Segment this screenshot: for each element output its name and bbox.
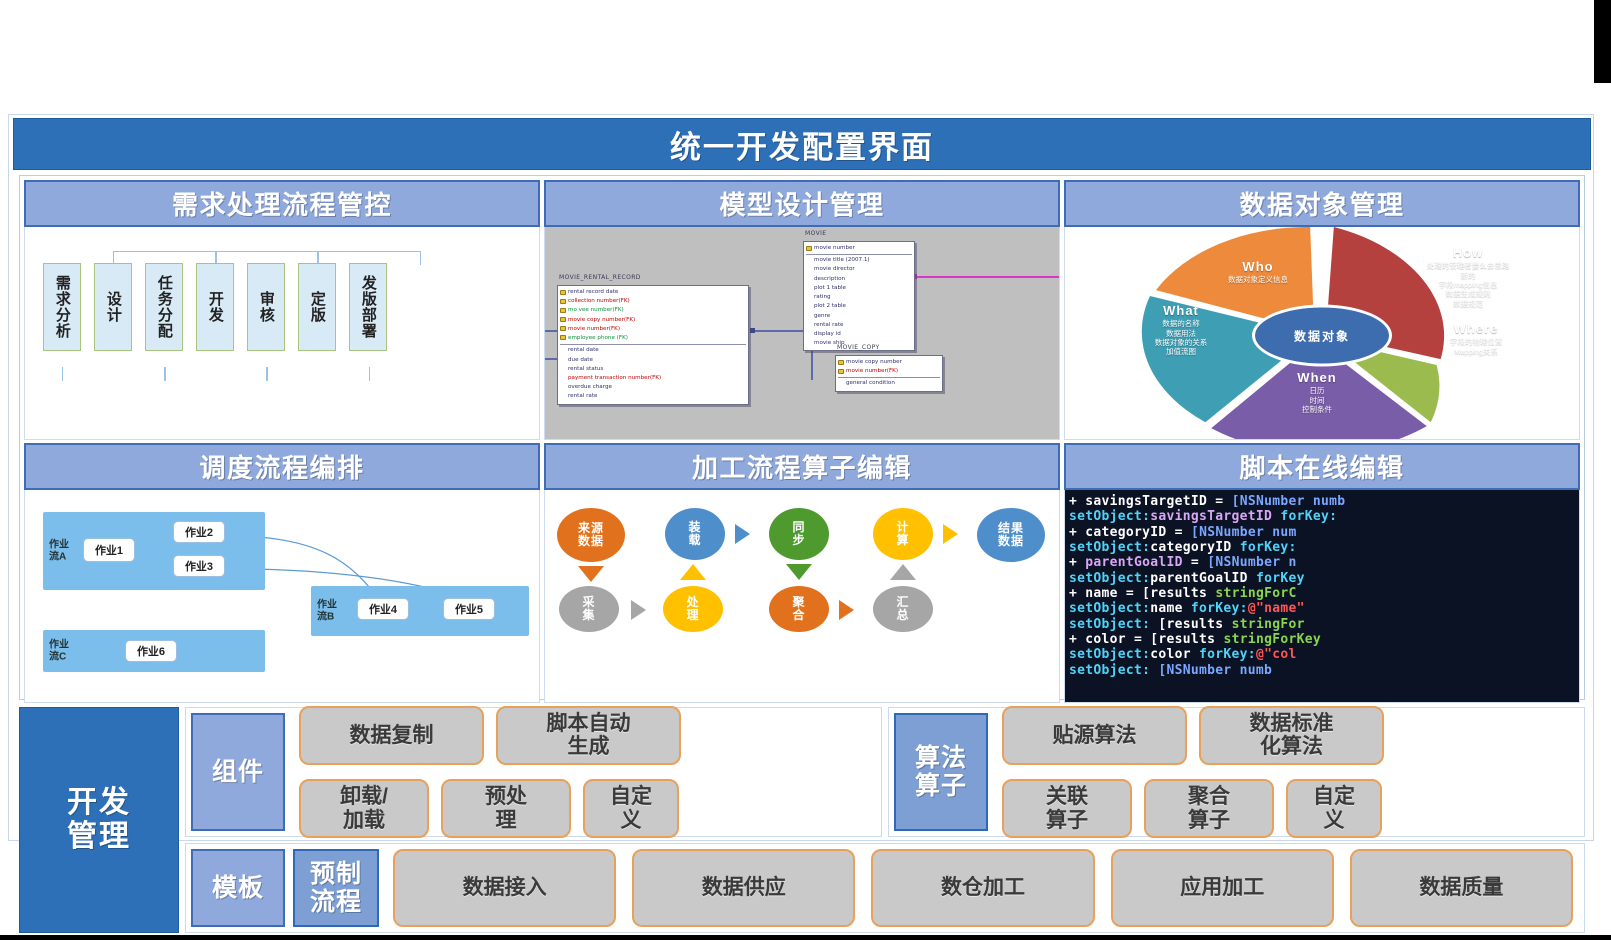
operator-compute[interactable]: 计算 xyxy=(873,508,933,560)
er-field: payment transaction number(FK) xyxy=(568,374,746,383)
script-code-area[interactable]: + savingsTargetID = [NSNumber numbsetObj… xyxy=(1065,490,1579,702)
panel-title-requirement: 需求处理流程管控 xyxy=(172,185,392,222)
code-line: setObject:parentGoalID forKey xyxy=(1069,571,1579,586)
chip-data-ingest[interactable]: 数据接入 xyxy=(393,849,616,927)
lane-label-b: 作业流B xyxy=(317,600,337,623)
er-field: rental rate xyxy=(568,392,746,401)
lane-label-c: 作业流C xyxy=(49,640,69,663)
lane-label-a: 作业流A xyxy=(49,540,69,563)
er-table-keys: movie number movie title (2007.1) movie … xyxy=(804,242,914,350)
code-line: setObject:savingsTargetID forKey: xyxy=(1069,509,1579,524)
flow-step[interactable]: 开发 xyxy=(196,263,234,351)
operator-label: 处理 xyxy=(686,596,699,621)
panel-header-script: 脚本在线编辑 xyxy=(1064,443,1580,490)
pie-label-line: 时间 xyxy=(1247,396,1387,405)
flow-step-label: 需求分析 xyxy=(54,275,70,339)
code-line: + categoryID = [NSNumber num xyxy=(1069,525,1579,540)
chip-app-process[interactable]: 应用加工 xyxy=(1111,849,1334,927)
component-chip-row-top: 数据复制 脚本自动生成 xyxy=(299,706,870,765)
chip-standardization-algorithm[interactable]: 数据标准化算法 xyxy=(1199,706,1384,765)
job-node[interactable]: 作业6 xyxy=(125,640,177,662)
pie-label-line: 加值流图 xyxy=(1111,347,1251,356)
arrow-right-icon xyxy=(839,600,854,620)
er-field: rental status xyxy=(568,365,746,374)
er-field: overdue charge xyxy=(568,383,746,392)
er-field: rental rate xyxy=(814,321,912,330)
category-template[interactable]: 模板 xyxy=(191,849,285,927)
operator-label: 汇总 xyxy=(896,596,909,621)
pie-label-line: 数据生成规则 xyxy=(1383,289,1553,298)
er-field: plot 1 table xyxy=(814,284,912,293)
code-line: setObject:categoryID forKey: xyxy=(1069,540,1579,555)
module-row-2: 调度流程编排 作业流A xyxy=(24,443,1580,703)
pie-label-title: How xyxy=(1383,245,1553,261)
chip-unload-load[interactable]: 卸载/加载 xyxy=(299,779,429,838)
operator-label: 采集 xyxy=(582,596,595,621)
dev-row-templates: 模板 预制流程 数据接入 数据供应 数仓加工 应用加工 数据质量 xyxy=(185,843,1585,933)
panel-title-model: 模型设计管理 xyxy=(719,185,884,222)
requirement-steps: 需求分析 设计 任务分配 开发 审核 定版 发版部署 xyxy=(43,245,529,429)
operator-label: 来源数据 xyxy=(578,522,604,547)
pie-label-line: 数据对象定义信息 xyxy=(1183,275,1333,284)
chip-custom-operator[interactable]: 自定义 xyxy=(1286,779,1382,838)
panel-model-design[interactable]: 模型设计管理 xyxy=(544,180,1060,440)
operator-label: 计算 xyxy=(896,521,909,546)
right-edge-bar xyxy=(1594,0,1611,83)
arrow-up-icon xyxy=(680,564,706,580)
category-label: 模板 xyxy=(212,874,264,902)
panel-schedule-orchestration[interactable]: 调度流程编排 作业流A xyxy=(24,443,540,703)
algorithm-chips: 贴源算法 数据标准化算法 关联算子 聚合算子 自定义 xyxy=(996,713,1579,831)
schedule-diagram: 作业流A 作业1 作业2 作业3 作业流B 作业4 作业5 作业流C xyxy=(25,490,539,702)
panel-body-model: is rented as /is a copy of a is rented u… xyxy=(544,227,1060,440)
panel-operator-editor[interactable]: 加工流程算子编辑 来源数据 采集 xyxy=(544,443,1060,703)
slide-page: 统一开发配置界面 需求处理流程管控 xyxy=(0,0,1611,940)
er-table-caption: MOVIE_COPY xyxy=(837,344,880,351)
category-label: 算法算子 xyxy=(915,744,967,800)
panel-title-data-object: 数据对象管理 xyxy=(1239,185,1404,222)
er-table-movie-rental-record[interactable]: MOVIE_RENTAL_RECORD rental record date c… xyxy=(557,285,749,405)
er-field: movie copy number(FK) xyxy=(568,316,746,325)
code-line: setObject: [NSNumber numb xyxy=(1069,663,1579,678)
page-title: 统一开发配置界面 xyxy=(670,122,934,167)
panel-script-editor[interactable]: 脚本在线编辑 + savingsTargetID = [NSNumber num… xyxy=(1064,443,1580,703)
flow-step-label: 发版部署 xyxy=(360,275,376,339)
code-line: setObject:color forKey:@"col xyxy=(1069,647,1579,662)
pie-label-line: 数据对象的关系 xyxy=(1111,338,1251,347)
pie-label-line: 数据的名称 xyxy=(1111,319,1251,328)
er-field: movie number(FK) xyxy=(568,325,746,334)
er-field: movie director xyxy=(814,265,912,274)
er-table-movie[interactable]: MOVIE movie number movie title (2007.1) … xyxy=(803,241,915,351)
operator-summary[interactable]: 汇总 xyxy=(873,586,933,632)
pie-label-how: How 处理的管理者要么去思路 新的 字段mapping信息 数据生成规则 数据… xyxy=(1383,245,1553,308)
pie-label-line: 字段mapping信息 xyxy=(1383,280,1553,289)
operator-label: 装载 xyxy=(688,521,701,546)
operator-label: 结果数据 xyxy=(998,522,1024,547)
component-chips: 数据复制 脚本自动生成 卸载/加载 预处理 自定义 xyxy=(293,713,876,831)
algorithm-chip-row-bottom: 关联算子 聚合算子 自定义 xyxy=(1002,779,1573,838)
arrow-right-icon xyxy=(735,524,750,544)
panel-header-operator: 加工流程算子编辑 xyxy=(544,443,1060,490)
er-field: genre xyxy=(814,312,912,321)
job-node[interactable]: 作业3 xyxy=(173,555,225,577)
page-title-bar: 统一开发配置界面 xyxy=(13,118,1591,170)
er-dot xyxy=(750,328,755,333)
panel-title-schedule: 调度流程编排 xyxy=(199,448,364,485)
pie-label-line: 控制条件 xyxy=(1247,405,1387,414)
panel-body-data-object: Who 数据对象定义信息 What 数据的名称 数据用法 数据对象的关系 加值流… xyxy=(1064,227,1580,440)
flow-step[interactable]: 定版 xyxy=(298,263,336,351)
er-table-movie-copy[interactable]: MOVIE_COPY movie copy number movie numbe… xyxy=(835,355,943,392)
component-chip-row-bottom: 卸载/加载 预处理 自定义 xyxy=(299,779,870,838)
code-line: + name = [results stringForC xyxy=(1069,586,1579,601)
panel-header-requirement: 需求处理流程管控 xyxy=(24,180,540,227)
operator-process[interactable]: 处理 xyxy=(663,586,723,632)
er-field: movie title (2007.1) xyxy=(814,256,912,265)
panel-header-model: 模型设计管理 xyxy=(544,180,1060,227)
category-components[interactable]: 组件 xyxy=(191,713,285,831)
flow-step-label: 审核 xyxy=(258,291,274,323)
category-label: 预制流程 xyxy=(310,860,362,916)
er-field: display id xyxy=(814,330,912,339)
chip-data-quality[interactable]: 数据质量 xyxy=(1350,849,1573,927)
chip-warehouse-process[interactable]: 数仓加工 xyxy=(871,849,1094,927)
pie-label-line: 字段的物理位置 xyxy=(1401,337,1551,346)
operator-result-data[interactable]: 结果数据 xyxy=(977,508,1045,562)
pie-label-title: Where xyxy=(1401,321,1551,337)
dev-management-content: 组件 数据复制 脚本自动生成 卸载/加载 预处理 自定义 xyxy=(185,707,1585,933)
panel-title-script: 脚本在线编辑 xyxy=(1239,448,1404,485)
er-table-keys: movie copy number movie number(FK) gener… xyxy=(836,356,942,391)
operator-flow-diagram: 来源数据 采集 处理 装载 xyxy=(545,490,1059,702)
category-preset-flow[interactable]: 预制流程 xyxy=(293,849,379,927)
panel-header-data-object: 数据对象管理 xyxy=(1064,180,1580,227)
pie-label-where: Where 字段的物理位置 Mapping关系 xyxy=(1401,321,1551,356)
pie-label-title: What xyxy=(1111,303,1251,319)
code-line: + color = [results stringForKey xyxy=(1069,632,1579,647)
data-object-pie-chart: Who 数据对象定义信息 What 数据的名称 数据用法 数据对象的关系 加值流… xyxy=(1065,227,1579,439)
dev-management-label-box: 开发管理 xyxy=(19,707,179,933)
pie-label-when: When 日历 时间 控制条件 xyxy=(1247,370,1387,414)
pie-label-line: Mapping关系 xyxy=(1401,347,1551,356)
category-label: 组件 xyxy=(212,758,264,786)
flow-step[interactable]: 发版部署 xyxy=(349,263,387,351)
category-algorithm-operators[interactable]: 算法算子 xyxy=(894,713,988,831)
chip-preprocess[interactable]: 预处理 xyxy=(441,779,571,838)
panel-requirement-flow[interactable]: 需求处理流程管控 需求分析 xyxy=(24,180,540,440)
bottom-edge-bar xyxy=(0,935,1611,940)
pie-label-line: 数据规范 xyxy=(1383,299,1553,308)
flow-step-label: 开发 xyxy=(207,291,223,323)
operator-collect[interactable]: 采集 xyxy=(559,586,619,632)
job-node[interactable]: 作业1 xyxy=(83,538,135,562)
flow-step[interactable]: 审核 xyxy=(247,263,285,351)
dev-row-components: 组件 数据复制 脚本自动生成 卸载/加载 预处理 自定义 xyxy=(185,707,1585,837)
operator-aggregate[interactable]: 聚合 xyxy=(769,586,829,632)
group-components: 组件 数据复制 脚本自动生成 卸载/加载 预处理 自定义 xyxy=(185,707,882,837)
flow-step[interactable]: 设计 xyxy=(94,263,132,351)
operator-label: 同步 xyxy=(792,521,805,546)
pie-label-who: Who 数据对象定义信息 xyxy=(1183,259,1333,285)
chip-source-algorithm[interactable]: 贴源算法 xyxy=(1002,706,1187,765)
pie-label-what: What 数据的名称 数据用法 数据对象的关系 加值流图 xyxy=(1111,303,1251,357)
arrow-down-icon xyxy=(578,566,604,582)
group-templates: 模板 预制流程 数据接入 数据供应 数仓加工 应用加工 数据质量 xyxy=(185,843,1585,933)
flow-step-label: 任务分配 xyxy=(156,275,172,339)
code-line: + parentGoalID = [NSNumber n xyxy=(1069,555,1579,570)
chip-join-operator[interactable]: 关联算子 xyxy=(1002,779,1132,838)
pie-label-line: 新的 xyxy=(1383,271,1553,280)
er-field: general condition xyxy=(846,379,940,388)
pie-center-label: 数据对象 xyxy=(1252,304,1392,366)
er-field: movie number(FK) xyxy=(846,367,940,376)
chip-data-supply[interactable]: 数据供应 xyxy=(632,849,855,927)
chip-aggregate-operator[interactable]: 聚合算子 xyxy=(1144,779,1274,838)
er-field: due date xyxy=(568,356,746,365)
dev-management-section: 开发管理 组件 数据复制 脚本自动生成 xyxy=(19,707,1585,933)
chip-data-copy[interactable]: 数据复制 xyxy=(299,706,484,765)
flow-step-label: 定版 xyxy=(309,291,325,323)
er-field: movie copy number xyxy=(846,358,940,367)
schedule-lane-b[interactable]: 作业流B xyxy=(311,586,529,636)
unified-dev-config-frame: 统一开发配置界面 需求处理流程管控 xyxy=(8,114,1594,841)
panel-body-requirement: 需求分析 设计 任务分配 开发 审核 定版 发版部署 xyxy=(24,227,540,440)
requirement-flow-diagram: 需求分析 设计 任务分配 开发 审核 定版 发版部署 xyxy=(43,245,529,429)
flow-connector-3 xyxy=(164,367,268,381)
job-node[interactable]: 作业4 xyxy=(357,598,409,620)
chip-custom-component[interactable]: 自定义 xyxy=(583,779,679,838)
arrow-down-icon xyxy=(786,564,812,580)
flow-step[interactable]: 任务分配 xyxy=(145,263,183,351)
arrow-right-icon xyxy=(631,600,646,620)
er-line-pink xyxy=(915,276,1060,278)
er-table-keys: rental record date collection number(FK)… xyxy=(558,286,748,404)
job-node[interactable]: 作业5 xyxy=(443,598,495,620)
er-field: mo vee number(FK) xyxy=(568,306,746,315)
er-field: rental record date xyxy=(568,288,746,297)
panel-body-schedule: 作业流A 作业1 作业2 作业3 作业流B 作业4 作业5 作业流C xyxy=(24,490,540,703)
flow-step[interactable]: 需求分析 xyxy=(43,263,81,351)
arrow-right-icon xyxy=(943,524,958,544)
operator-source-data[interactable]: 来源数据 xyxy=(557,508,625,562)
pie-label-line: 处理的管理者要么去思路 xyxy=(1383,261,1553,270)
er-field: movie number xyxy=(814,244,912,253)
module-grid: 需求处理流程管控 需求分析 xyxy=(19,175,1585,700)
pie-label-title: Who xyxy=(1183,259,1333,275)
er-field: employee phone (FK) xyxy=(568,334,746,343)
operator-label: 聚合 xyxy=(792,596,805,621)
pie-label-title: When xyxy=(1247,370,1387,386)
er-table-caption: MOVIE_RENTAL_RECORD xyxy=(559,274,641,281)
pie-label-line: 日历 xyxy=(1247,386,1387,395)
er-diagram: is rented as /is a copy of a is rented u… xyxy=(545,227,1059,439)
dev-management-label: 开发管理 xyxy=(67,786,131,855)
panel-title-operator: 加工流程算子编辑 xyxy=(692,448,912,485)
flow-connector-1 xyxy=(62,367,166,381)
arrow-up-icon xyxy=(890,564,916,580)
er-field: collection number(FK) xyxy=(568,297,746,306)
code-line: setObject: [results stringFor xyxy=(1069,617,1579,632)
er-field: rating xyxy=(814,293,912,302)
job-node[interactable]: 作业2 xyxy=(173,521,225,543)
panel-body-operator: 来源数据 采集 处理 装载 xyxy=(544,490,1060,703)
panel-header-schedule: 调度流程编排 xyxy=(24,443,540,490)
code-line: setObject:name forKey:@"name" xyxy=(1069,601,1579,616)
pie-label-line: 数据用法 xyxy=(1111,329,1251,338)
group-algorithm-operators: 算法算子 贴源算法 数据标准化算法 关联算子 聚合算子 自定义 xyxy=(888,707,1585,837)
er-table-caption: MOVIE xyxy=(805,230,826,237)
algorithm-chip-row-top: 贴源算法 数据标准化算法 xyxy=(1002,706,1573,765)
code-line: + savingsTargetID = [NSNumber numb xyxy=(1069,494,1579,509)
panel-data-object[interactable]: 数据对象管理 xyxy=(1064,180,1580,440)
operator-load[interactable]: 装载 xyxy=(665,508,725,560)
template-chips: 数据接入 数据供应 数仓加工 应用加工 数据质量 xyxy=(387,849,1579,927)
chip-script-auto-gen[interactable]: 脚本自动生成 xyxy=(496,706,681,765)
er-field: description xyxy=(814,275,912,284)
flow-step-label: 设计 xyxy=(105,291,121,323)
flow-connector-5 xyxy=(266,367,370,381)
panel-body-script: + savingsTargetID = [NSNumber numbsetObj… xyxy=(1064,490,1580,703)
schedule-lane-a[interactable]: 作业流A xyxy=(43,512,265,590)
module-row-1: 需求处理流程管控 需求分析 xyxy=(24,180,1580,440)
operator-sync[interactable]: 同步 xyxy=(769,508,829,560)
er-field: rental date xyxy=(568,346,746,355)
er-field: plot 2 table xyxy=(814,302,912,311)
